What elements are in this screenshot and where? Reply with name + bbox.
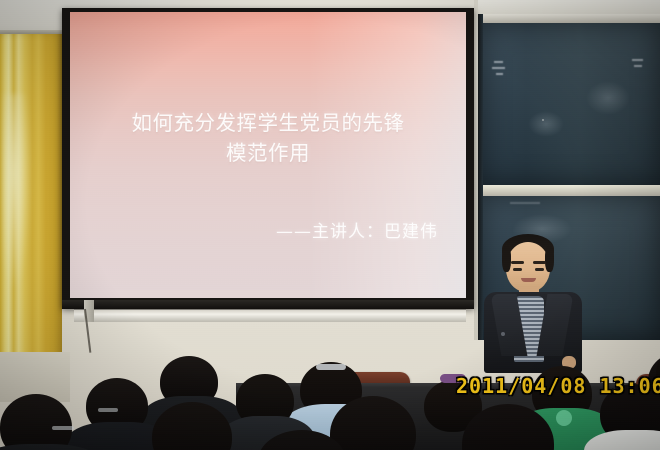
slide-subtitle: ——主讲人：巴建伟 [276,217,438,242]
blackboard-smudge [586,81,630,115]
slide-title: 如何充分发挥学生党员的先锋 模范作用 [78,108,458,168]
blackboard-panel-upper [482,23,660,185]
speaker-brow-right [533,261,546,264]
slide-title-line1: 如何充分发挥学生党员的先锋 [132,111,405,135]
speaker-eye-left [513,268,522,271]
eyeglasses-temple [52,426,74,430]
blackboard-smudge [528,111,564,137]
window-curtain [0,34,62,364]
speaker-head [506,242,550,292]
speaker-brow-left [511,261,524,264]
hair-band [316,364,346,370]
chalk-mark [496,73,503,75]
projection-screen-surface: 如何充分发挥学生党员的先锋 模范作用 ——主讲人：巴建伟 [70,12,466,298]
scarf-knot [556,410,572,426]
slide-title-line2: 模范作用 [78,138,458,168]
screen-bottom-bar [62,300,474,309]
chalk-mark [494,61,503,63]
projection-screen: 如何充分发挥学生党员的先锋 模范作用 ——主讲人：巴建伟 [62,8,474,308]
speaker-mouth [521,278,536,282]
eyeglasses-temple [98,408,118,412]
chalk-mark [510,202,540,204]
speaker-eye-right [535,268,544,271]
photograph: 如何充分发挥学生党员的先锋 模范作用 ——主讲人：巴建伟 [0,0,660,450]
camera-timestamp: 2011/04/08 13:06 [456,374,660,398]
chalk-mark [492,67,505,69]
dust-speck [542,119,544,121]
chalk-mark [634,65,642,67]
speaker-hair-side-left [502,246,511,272]
curtain-highlight [2,94,32,294]
blackboard-middle-rail [478,185,660,196]
chalk-mark [632,59,643,61]
blackboard-top-wall [478,0,660,14]
blackboard-top-rail [478,14,660,23]
speaker-hair-side-right [545,246,554,272]
audience-head [0,394,72,450]
screen-casing [74,309,466,322]
